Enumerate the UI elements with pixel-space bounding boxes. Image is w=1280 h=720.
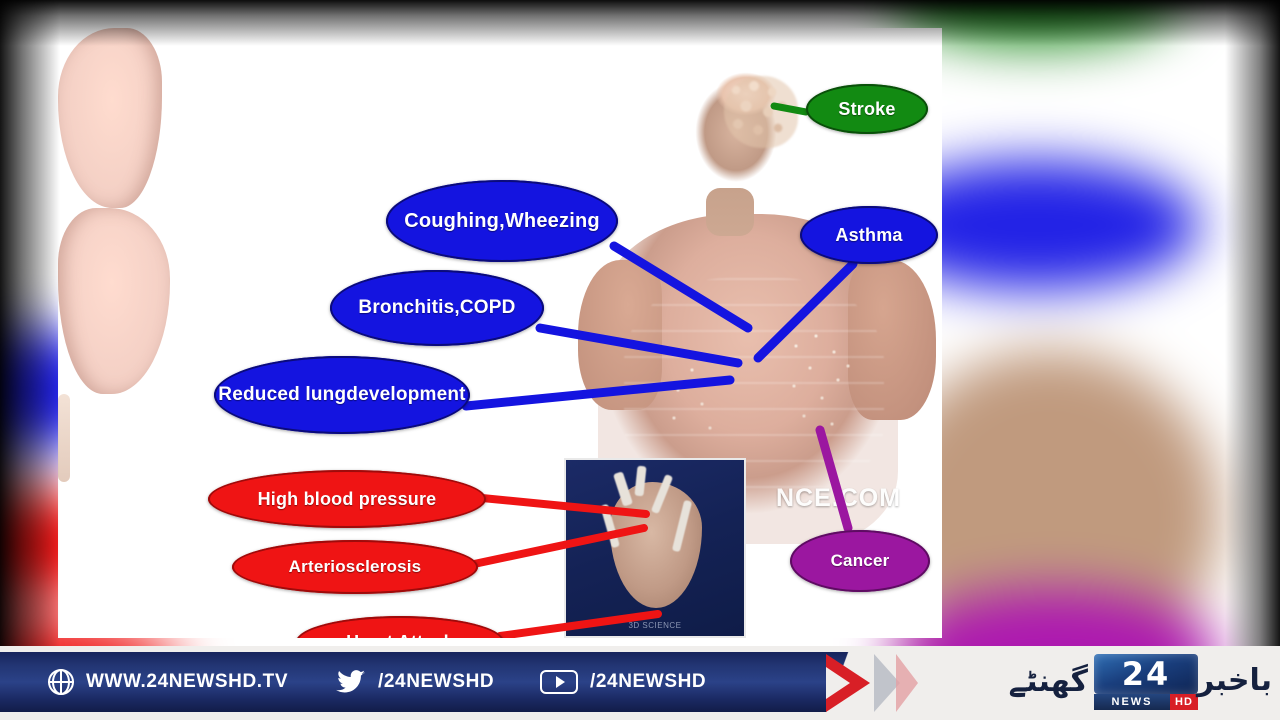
youtube-handle: /24NEWSHD bbox=[590, 671, 706, 693]
callout-asthma[interactable]: Asthma bbox=[800, 206, 938, 264]
leader-line-coughing bbox=[614, 246, 748, 328]
leader-line-asthma bbox=[758, 264, 853, 358]
channel-logo: 24 NEWS HD bbox=[1094, 654, 1198, 710]
callout-high-blood-pressure[interactable]: High blood pressure bbox=[208, 470, 486, 528]
chevron-icon bbox=[826, 654, 870, 712]
leader-line-bronchitis bbox=[540, 328, 738, 363]
broadcast-screen: NCE.COM 3D SCIENCE bbox=[0, 0, 1280, 720]
leader-line-stroke bbox=[774, 106, 806, 112]
logo-news-text: NEWS bbox=[1094, 694, 1170, 710]
chevron-icon bbox=[896, 654, 918, 712]
urdu-hours-text: گھنٹے bbox=[960, 662, 1088, 702]
leader-line-hbp bbox=[482, 498, 646, 514]
diagram-panel: NCE.COM 3D SCIENCE bbox=[58, 28, 942, 638]
leader-line-reduced bbox=[466, 380, 730, 406]
social-links-bar: WWW.24NEWSHD.TV /24NEWSHD /24NEWSHD bbox=[0, 652, 880, 712]
callout-reduced-lung[interactable]: Reduced lungdevelopment bbox=[214, 356, 470, 434]
callout-arteriosclerosis[interactable]: Arteriosclerosis bbox=[232, 540, 478, 594]
youtube-link[interactable]: /24NEWSHD bbox=[540, 652, 706, 712]
website-link[interactable]: WWW.24NEWSHD.TV bbox=[48, 652, 288, 712]
globe-icon bbox=[48, 669, 74, 695]
urdu-tagline-text: باخبر bbox=[1204, 660, 1272, 702]
leader-line-heart bbox=[500, 614, 658, 636]
leader-line-cancer bbox=[820, 430, 848, 528]
callout-cancer[interactable]: Cancer bbox=[790, 530, 930, 592]
twitter-link[interactable]: /24NEWSHD bbox=[336, 652, 494, 712]
youtube-icon bbox=[540, 670, 578, 694]
twitter-icon bbox=[336, 670, 366, 694]
callout-bronchitis[interactable]: Bronchitis,COPD bbox=[330, 270, 544, 346]
chevron-divider bbox=[826, 654, 956, 712]
website-label: WWW.24NEWSHD.TV bbox=[86, 671, 288, 693]
callout-stroke[interactable]: Stroke bbox=[806, 84, 928, 134]
logo-number: 24 bbox=[1094, 654, 1198, 694]
logo-hd-badge: HD bbox=[1170, 694, 1198, 710]
lower-third-bar: WWW.24NEWSHD.TV /24NEWSHD /24NEWSHD bbox=[0, 646, 1280, 720]
callout-coughing[interactable]: Coughing,Wheezing bbox=[386, 180, 618, 262]
leader-line-arterio bbox=[474, 528, 644, 564]
twitter-handle: /24NEWSHD bbox=[378, 671, 494, 693]
channel-logo-cluster: گھنٹے 24 NEWS HD باخبر bbox=[960, 650, 1272, 716]
